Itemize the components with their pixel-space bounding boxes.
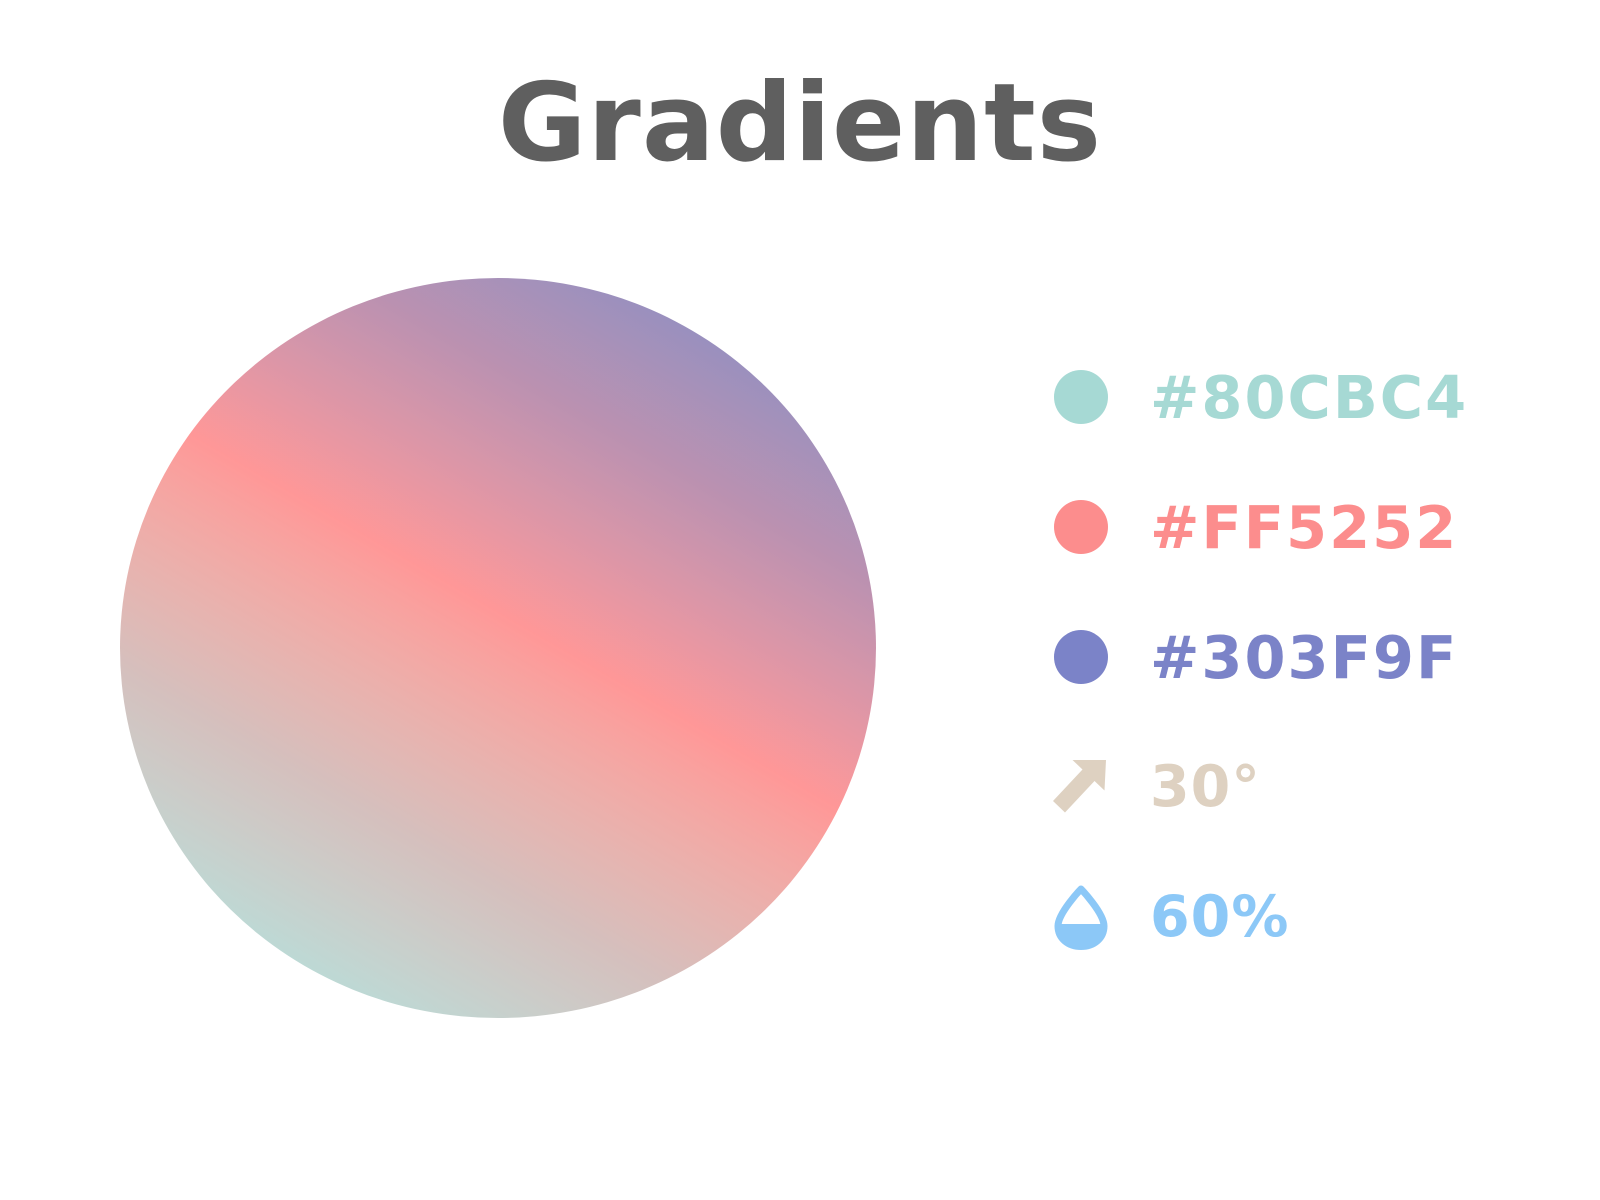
color-dot-coral-icon	[1044, 490, 1118, 564]
gradient-preview-canvas: Gradients #80CBC4 #FF5252 #303F9F	[0, 0, 1600, 1200]
legend-row[interactable]: #FF5252	[1044, 478, 1514, 576]
gradient-swatch[interactable]	[120, 278, 876, 1018]
arrow-up-right-icon	[1044, 750, 1118, 824]
water-droplet-icon	[1044, 880, 1118, 954]
legend-row-angle[interactable]: 30°	[1044, 738, 1514, 836]
legend-row-opacity[interactable]: 60%	[1044, 868, 1514, 966]
legend-row[interactable]: #80CBC4	[1044, 348, 1514, 446]
color-dot-indigo-icon	[1044, 620, 1118, 694]
legend-item-label: #80CBC4	[1150, 368, 1468, 427]
legend-item-label: #303F9F	[1150, 628, 1458, 687]
legend-item-label: 60%	[1150, 889, 1289, 946]
legend-item-label: #FF5252	[1150, 498, 1458, 557]
gradient-circle-fill	[120, 278, 876, 1018]
legend-row[interactable]: #303F9F	[1044, 608, 1514, 706]
gradient-legend: #80CBC4 #FF5252 #303F9F 30°	[1044, 348, 1514, 966]
color-dot-teal-icon	[1044, 360, 1118, 434]
legend-item-label: 30°	[1150, 759, 1261, 816]
page-title: Gradients	[0, 62, 1600, 186]
